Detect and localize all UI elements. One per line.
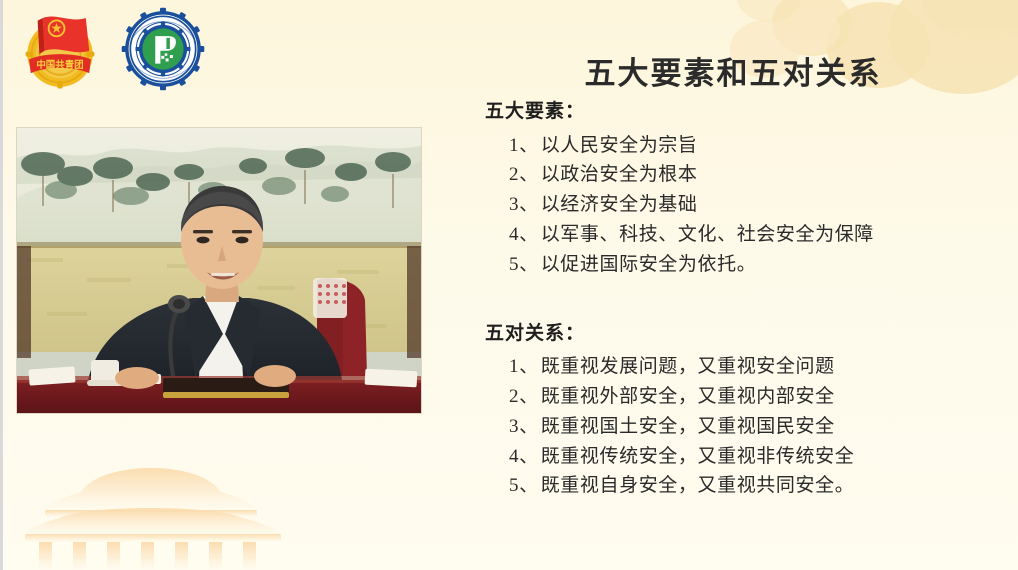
cloud-puff xyxy=(786,8,840,52)
list-item-index: 3、 xyxy=(509,416,539,437)
list-item-text: 以促进国际安全为依托。 xyxy=(541,254,757,275)
list-item-text: 以人民安全为宗旨 xyxy=(541,135,698,156)
palace-silhouette-decoration xyxy=(21,458,331,570)
communist-youth-league-emblem-icon: 中国共青团 xyxy=(17,6,103,92)
university-school-emblem-icon xyxy=(115,6,211,92)
list-item: 4、既重视传统安全，又重视非传统安全 xyxy=(509,442,997,472)
cloud-puff xyxy=(920,0,1018,42)
logo-group: 中国共青团 xyxy=(17,6,211,92)
list-item: 3、既重视国土安全，又重视国民安全 xyxy=(509,412,997,442)
list-item-index: 3、 xyxy=(509,194,539,215)
youth-league-banner-text: 中国共青团 xyxy=(36,59,83,71)
list-item-text: 既重视外部安全，又重视内部安全 xyxy=(541,386,835,407)
list-item-text: 以政治安全为根本 xyxy=(541,164,698,185)
content-area: 五大要素： 1、以人民安全为宗旨 2、以政治安全为根本 3、以经济安全为基础 4… xyxy=(485,98,997,501)
list-item-index: 4、 xyxy=(509,224,539,245)
list-item-text: 既重视发展问题，又重视安全问题 xyxy=(541,356,835,377)
list-item-text: 既重视自身安全，又重视共同安全。 xyxy=(541,475,855,496)
list-item-index: 1、 xyxy=(509,135,539,156)
list-item: 3、以经济安全为基础 xyxy=(509,190,997,220)
section-five-relationships: 五对关系： 1、既重视发展问题，又重视安全问题 2、既重视外部安全，又重视内部安… xyxy=(485,320,997,502)
section-item-list: 1、既重视发展问题，又重视安全问题 2、既重视外部安全，又重视内部安全 3、既重… xyxy=(485,352,997,501)
list-item-index: 2、 xyxy=(509,386,539,407)
list-item-index: 1、 xyxy=(509,356,539,377)
list-item: 1、以人民安全为宗旨 xyxy=(509,131,997,161)
section-five-elements: 五大要素： 1、以人民安全为宗旨 2、以政治安全为根本 3、以经济安全为基础 4… xyxy=(485,98,997,280)
list-item-text: 以经济安全为基础 xyxy=(541,194,698,215)
list-item: 2、既重视外部安全，又重视内部安全 xyxy=(509,382,997,412)
list-item-text: 既重视传统安全，又重视非传统安全 xyxy=(541,446,855,467)
list-item-text: 以军事、科技、文化、社会安全为保障 xyxy=(541,224,874,245)
slide-canvas: 中国共青团 xyxy=(0,0,1018,570)
section-heading: 五大要素： xyxy=(485,98,997,127)
list-item-index: 2、 xyxy=(509,164,539,185)
list-item-text: 既重视国土安全，又重视国民安全 xyxy=(541,416,835,437)
list-item: 2、以政治安全为根本 xyxy=(509,160,997,190)
meeting-speaker-photo xyxy=(17,128,421,413)
list-item-index: 5、 xyxy=(509,475,539,496)
list-item: 5、以促进国际安全为依托。 xyxy=(509,250,997,280)
list-item: 4、以军事、科技、文化、社会安全为保障 xyxy=(509,220,997,250)
section-item-list: 1、以人民安全为宗旨 2、以政治安全为根本 3、以经济安全为基础 4、以军事、科… xyxy=(485,131,997,280)
section-heading: 五对关系： xyxy=(485,320,997,349)
list-item: 5、既重视自身安全，又重视共同安全。 xyxy=(509,471,997,501)
cloud-puff xyxy=(736,0,802,22)
list-item-index: 4、 xyxy=(509,446,539,467)
list-item: 1、既重视发展问题，又重视安全问题 xyxy=(509,352,997,382)
list-item-index: 5、 xyxy=(509,254,539,275)
cloud-puff xyxy=(772,0,852,56)
page-title: 五大要素和五对关系 xyxy=(473,55,993,94)
